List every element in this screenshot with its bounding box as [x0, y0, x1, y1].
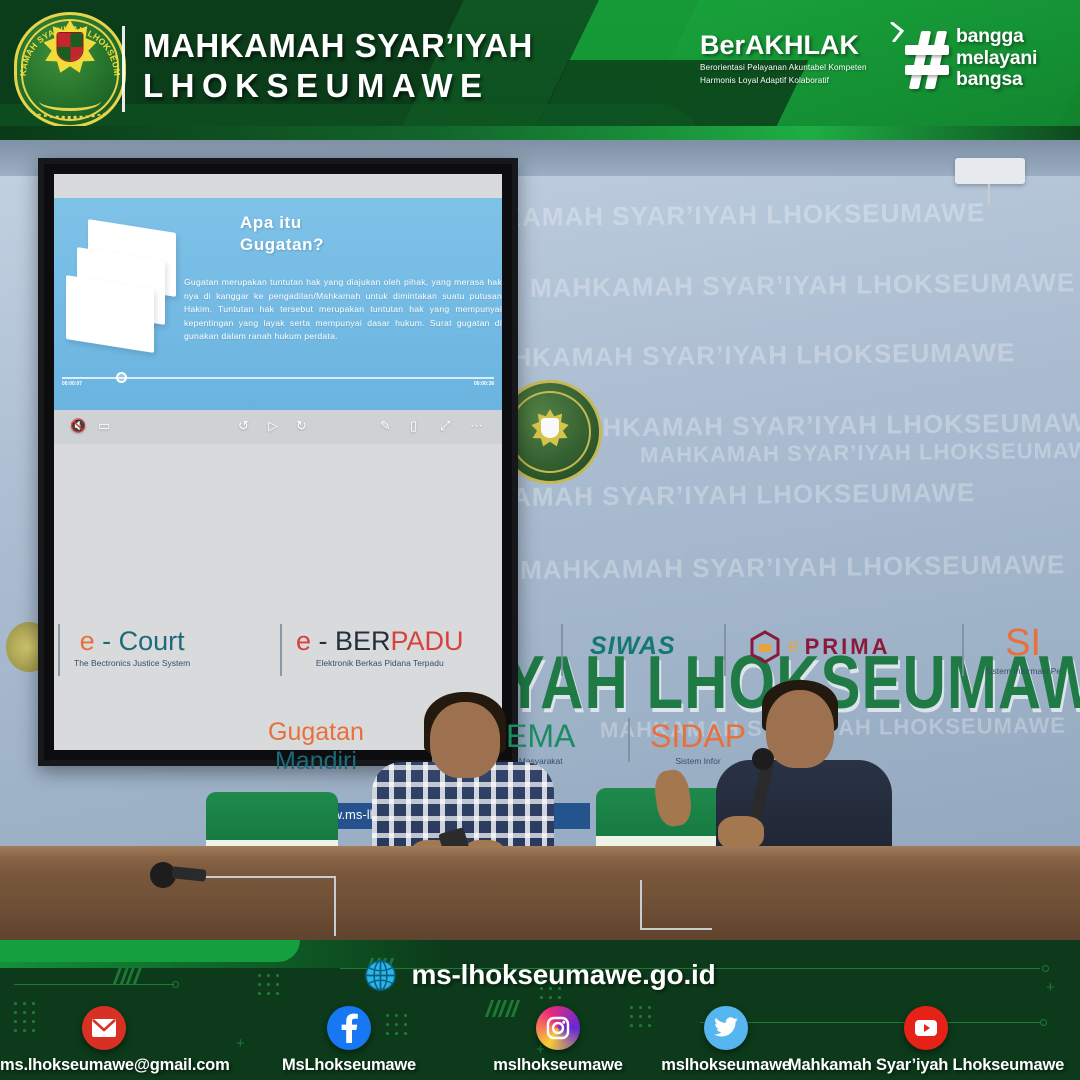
berakhlak-tagline-line1: Berorientasi Pelayanan Akuntabel Kompete… — [700, 62, 890, 73]
social-item-email[interactable]: ms.lhokseumawe@gmail.com — [0, 1006, 208, 1075]
prima-hexagon-icon — [748, 630, 782, 664]
logo-separator — [962, 624, 964, 676]
court-seal-logo: MAHKAMAH SYAR'IYAH LHOKSEUMAWE — [14, 12, 126, 128]
footer-banner: + + + ms-lhokseumawe.go.id ms.lhokseumaw… — [0, 940, 1080, 1080]
youtube-icon[interactable] — [904, 1006, 948, 1050]
sipema-wordmark: EMA — [506, 718, 575, 755]
person-right-head — [766, 690, 834, 768]
header-title-block: MAHKAMAH SYAR’IYAH LHOKSEUMAWE — [143, 26, 533, 106]
globe-icon — [364, 959, 397, 992]
video-control-bar[interactable]: 🔇 ▭ ↺ ▷ ↻ ✎ ▯ ⤢ ⋯ — [54, 410, 502, 444]
pen-icon[interactable]: ✎ — [380, 418, 391, 434]
berakhlak-wordmark: BerAKHLAK — [700, 30, 859, 60]
banner-logo-row-top: e - Court The Bectronics Justice System … — [0, 622, 1080, 682]
bangga-text-block: bangga melayani bangsa — [956, 26, 1037, 91]
email-icon[interactable] — [82, 1006, 126, 1050]
e-berpadu-prefix: e — [296, 626, 311, 656]
backdrop-watermark: MAHKAMAH SYAR’IYAH LHOKSEUMAWE — [470, 337, 1016, 374]
microphone-cable — [206, 876, 336, 878]
handheld-microphone-head — [752, 748, 774, 770]
e-prima-logo: e PRIMA — [748, 630, 890, 664]
header-bottom-accent-bar — [0, 126, 1080, 140]
bangga-line2: melayani — [956, 48, 1037, 70]
person-right-hand — [718, 816, 764, 850]
sipema-logo: EMA Masyarakat — [506, 718, 575, 766]
bangga-line1: bangga — [956, 26, 1037, 48]
seal-shield-emblem — [57, 32, 84, 62]
laptop-cable — [642, 928, 712, 930]
facebook-icon[interactable] — [327, 1006, 371, 1050]
website-row[interactable]: ms-lhokseumawe.go.id — [0, 954, 1080, 996]
sidap-wordmark: SIDAP — [650, 718, 746, 755]
e-berpadu-name: - BER — [311, 626, 391, 656]
hash-icon — [905, 31, 949, 89]
siwas-wordmark: SIWAS — [590, 632, 676, 661]
e-court-prefix: e — [80, 626, 95, 656]
logo-separator — [724, 624, 726, 676]
presentation-slide: Apa itu Gugatan? Gugatan merupakan tuntu… — [54, 198, 502, 410]
logo-separator — [628, 718, 630, 762]
slide-title: Apa itu Gugatan? — [240, 212, 324, 256]
gugatan-mandiri-line2: Mandiri — [268, 747, 364, 776]
e-court-tagline: The Bectronics Justice System — [74, 658, 190, 668]
prima-wordmark: PRIMA — [805, 634, 891, 660]
poster-canvas: MAHKAMAH SYAR'IYAH LHOKSEUMAWE MAHKAMAH … — [0, 0, 1080, 1080]
e-court-name: - Court — [95, 626, 185, 656]
video-progress-bar[interactable]: 00:00:07 00:00:38 — [54, 372, 502, 388]
fullscreen-icon[interactable]: ⤢ — [440, 418, 450, 434]
backdrop-watermark: MAHKAMAH SYAR’IYAH LHOKSEUMAWE — [530, 267, 1076, 304]
sidap-logo: SIDAP Sistem Infor — [650, 718, 746, 766]
slide-document-graphic — [66, 226, 196, 366]
header-divider — [122, 26, 125, 112]
email-label[interactable]: ms.lhokseumawe@gmail.com — [0, 1056, 208, 1075]
social-item-youtube[interactable]: Mahkamah Syar’iyah Lhokseumawe — [772, 1006, 1080, 1075]
video-progress-knob[interactable] — [116, 372, 127, 383]
laptop-cable — [640, 880, 642, 930]
person-left-head — [430, 702, 500, 778]
forward-icon[interactable]: ↻ — [296, 418, 307, 434]
header-title-line1: MAHKAMAH SYAR’IYAH — [143, 26, 533, 66]
seal-wreath-lower — [33, 103, 107, 119]
backdrop-watermark: MAHKAMAH SYAR’IYAH LHOKSEUMAWE — [440, 197, 986, 234]
backdrop-watermark: MAHKAMAH SYAR’IYAH LHOKSEUMAWE — [640, 438, 1080, 469]
e-court-logo: e - Court The Bectronics Justice System — [74, 626, 190, 668]
event-photograph: MAHKAMAH SYAR’IYAH LHOKSEUMAWE MAHKAMAH … — [0, 140, 1080, 940]
instagram-icon[interactable] — [536, 1006, 580, 1050]
slide-title-line2: Gugatan? — [240, 234, 324, 256]
gugatan-mandiri-logo: Gugatan Mandiri — [268, 718, 364, 776]
bangga-line3: bangsa — [956, 69, 1037, 91]
website-url[interactable]: ms-lhokseumawe.go.id — [411, 959, 715, 991]
logo-separator — [58, 624, 60, 676]
ceiling-cable — [988, 184, 990, 206]
berakhlak-logo: BerAKHLAK Berorientasi Pelayanan Akuntab… — [700, 30, 890, 86]
backdrop-watermark: MAHKAMAH SYAR’IYAH LHOKSEUMAWE — [520, 549, 1066, 586]
mute-icon[interactable]: 🔇 — [70, 418, 86, 434]
more-icon[interactable]: ⋯ — [470, 418, 483, 434]
siwas-logo: SIWAS — [590, 632, 676, 661]
sipp-tagline: Sistem Informasi Pe — [985, 666, 1061, 676]
twitter-icon[interactable] — [704, 1006, 748, 1050]
e-berpadu-tagline: Elektronik Berkas Pidana Terpadu — [296, 658, 464, 668]
wall-fixture — [955, 158, 1025, 184]
logo-separator — [561, 624, 563, 676]
captions-icon[interactable]: ▭ — [98, 418, 110, 434]
berakhlak-tagline-line2: Harmonis Loyal Adaptif Kolaboratif — [700, 75, 890, 86]
sipp-wordmark: SI — [985, 622, 1061, 665]
e-berpadu-logo: e - BERPADU Elektronik Berkas Pidana Ter… — [296, 626, 464, 668]
logo-separator — [280, 624, 282, 676]
gugatan-mandiri-line1: Gugatan — [268, 718, 364, 747]
microphone-cable — [334, 876, 336, 936]
sipp-logo: SI Sistem Informasi Pe — [985, 622, 1061, 676]
slide-body-text: Gugatan merupakan tuntutan hak yang diaj… — [184, 276, 502, 344]
prima-e-icon: e — [788, 636, 799, 658]
video-time-total: 00:00:38 — [474, 381, 494, 387]
header-banner: MAHKAMAH SYAR'IYAH LHOKSEUMAWE MAHKAMAH … — [0, 0, 1080, 140]
bangga-melayani-bangsa-logo: bangga melayani bangsa — [905, 26, 1070, 91]
youtube-label[interactable]: Mahkamah Syar’iyah Lhokseumawe — [772, 1056, 1080, 1075]
rewind-icon[interactable]: ↺ — [238, 418, 249, 434]
header-title-line2: LHOKSEUMAWE — [143, 66, 533, 106]
slide-title-line1: Apa itu — [240, 212, 324, 234]
battery-icon[interactable]: ▯ — [410, 418, 417, 434]
berakhlak-arrow-icon — [890, 22, 904, 42]
e-berpadu-suffix: PADU — [391, 626, 464, 656]
play-icon[interactable]: ▷ — [268, 418, 278, 434]
video-time-elapsed: 00:00:07 — [62, 381, 82, 387]
social-media-row: ms.lhokseumawe@gmail.com MsLhokseumawe m… — [0, 1006, 1080, 1080]
